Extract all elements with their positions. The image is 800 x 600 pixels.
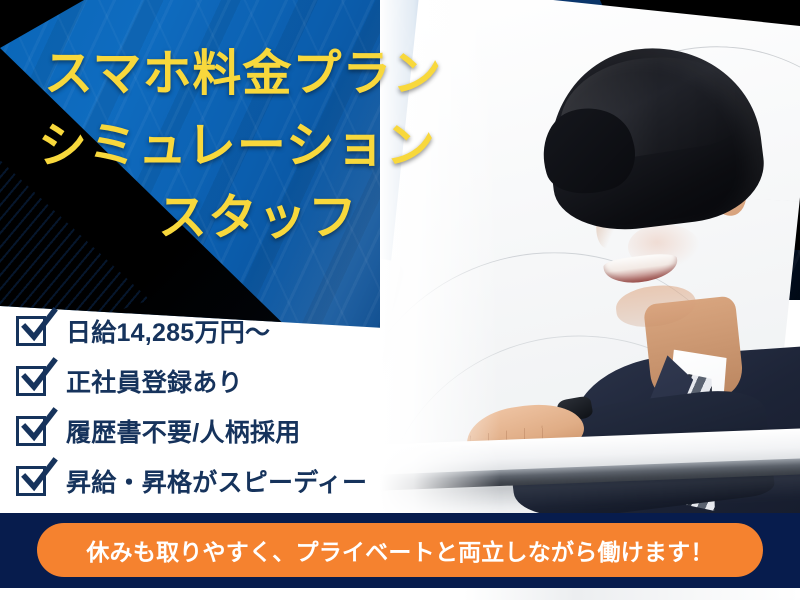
- headline-line-2: シミュレーション: [0, 110, 520, 182]
- callout-text: 休みも取りやすく、プライベートと両立しながら働けます！: [86, 533, 713, 567]
- page-title: スマホ料金プラン シミュレーション スタッフ: [0, 38, 520, 254]
- list-item-label: 正社員登録あり: [66, 363, 243, 399]
- list-item: 履歴書不要/人柄採用: [0, 406, 470, 456]
- list-item: 日給14,285万円～: [0, 306, 470, 356]
- headline-line-3: スタッフ: [0, 182, 520, 254]
- list-item-label: 昇給・昇格がスピーディー: [66, 463, 367, 499]
- benefits-list: 日給14,285万円～ 正社員登録あり 履歴書不要/人柄採用: [0, 306, 470, 506]
- footer-strip: [0, 588, 800, 600]
- list-item-label: 履歴書不要/人柄採用: [66, 413, 300, 449]
- headline-line-1: スマホ料金プラン: [0, 38, 520, 110]
- checkbox-checked-icon: [16, 366, 46, 396]
- list-item: 正社員登録あり: [0, 356, 470, 406]
- list-item: 昇給・昇格がスピーディー: [0, 456, 470, 506]
- checkbox-checked-icon: [16, 466, 46, 496]
- callout-pill: 休みも取りやすく、プライベートと両立しながら働けます！: [37, 523, 763, 577]
- checkbox-checked-icon: [16, 316, 46, 346]
- checkbox-checked-icon: [16, 416, 46, 446]
- callout-band: 休みも取りやすく、プライベートと両立しながら働けます！: [0, 513, 800, 588]
- list-item-label: 日給14,285万円～: [66, 313, 270, 349]
- recruitment-banner: スマホ料金プラン シミュレーション スタッフ 日給14,285万円～ 正社員登録…: [0, 0, 800, 600]
